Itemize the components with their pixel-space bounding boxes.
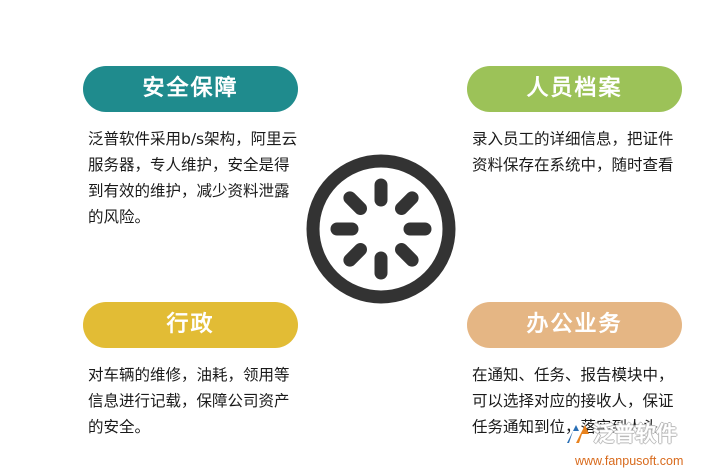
heading-label-personnel-files: 人员档案	[526, 78, 622, 100]
quadrant-office-business: 办公业务 在通知、任务、报告模块中，可以选择对应的接收人，保证任务通知到位，落实…	[467, 302, 682, 440]
heading-label-security: 安全保障	[142, 78, 238, 100]
quadrant-administration: 行政 对车辆的维修，油耗，领用等信息进行记载，保障公司资产的安全。	[83, 302, 298, 440]
heading-label-office-business: 办公业务	[526, 314, 622, 336]
body-text-office-business: 在通知、任务、报告模块中，可以选择对应的接收人，保证任务通知到位，落实到人头。	[467, 362, 684, 440]
infographic-canvas: 安全保障 泛普软件采用b/s架构，阿里云服务器，专人维护，安全是得到有效的维护，…	[0, 0, 712, 468]
heading-pill-office-business: 办公业务	[467, 302, 682, 348]
heading-label-administration: 行政	[166, 314, 214, 336]
heading-pill-security: 安全保障	[83, 66, 298, 112]
quadrant-security: 安全保障 泛普软件采用b/s架构，阿里云服务器，专人维护，安全是得到有效的维护，…	[83, 66, 298, 230]
quadrant-personnel-files: 人员档案 录入员工的详细信息，把证件资料保存在系统中，随时查看	[467, 66, 682, 178]
body-text-personnel-files: 录入员工的详细信息，把证件资料保存在系统中，随时查看	[467, 126, 684, 178]
body-text-security: 泛普软件采用b/s架构，阿里云服务器，专人维护，安全是得到有效的维护，减少资料泄…	[83, 126, 300, 230]
body-text-administration: 对车辆的维修，油耗，领用等信息进行记载，保障公司资产的安全。	[83, 362, 300, 440]
heading-pill-administration: 行政	[83, 302, 298, 348]
watermark-url-row: www.fanpusoft.com	[565, 447, 710, 474]
heading-pill-personnel-files: 人员档案	[467, 66, 682, 112]
watermark-url-label: www.fanpusoft.com	[575, 454, 683, 468]
loading-spinner-icon	[300, 148, 462, 310]
